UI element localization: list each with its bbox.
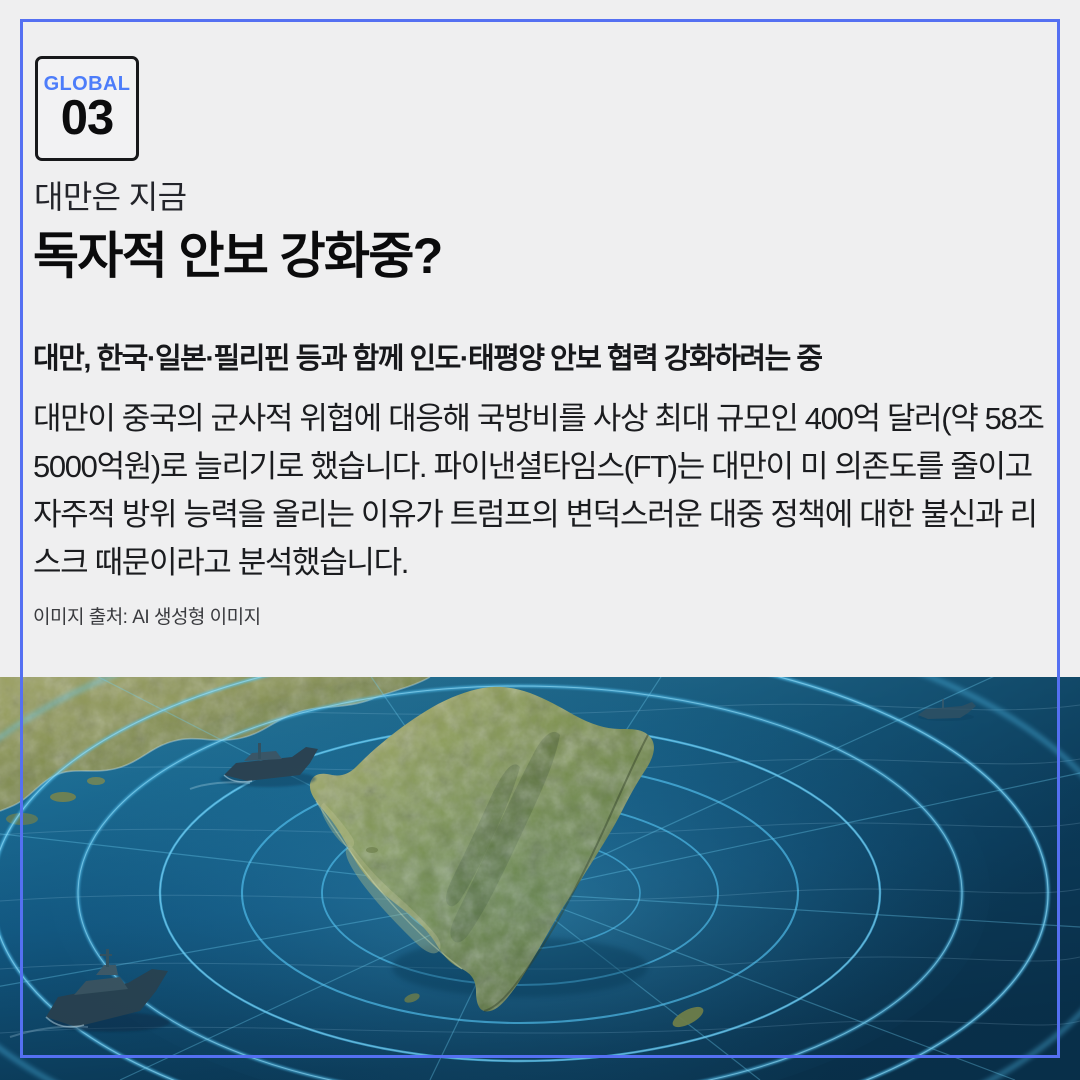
infographic-card: GLOBAL 03 대만은 지금 독자적 안보 강화중? 대만, 한국·일본·필… bbox=[0, 0, 1080, 1080]
lede-text: 대만, 한국·일본·필리핀 등과 함께 인도·태평양 안보 협력 강화하려는 중 bbox=[33, 335, 1045, 377]
page-title: 독자적 안보 강화중? bbox=[33, 216, 442, 288]
badge-number-label: 03 bbox=[61, 94, 114, 143]
image-credit: 이미지 출처: AI 생성형 이미지 bbox=[33, 602, 261, 629]
taiwan-radar-illustration bbox=[0, 677, 1080, 1080]
text-panel: GLOBAL 03 대만은 지금 독자적 안보 강화중? 대만, 한국·일본·필… bbox=[0, 0, 1080, 677]
hero-image bbox=[0, 677, 1080, 1080]
body-text: 대만이 중국의 군사적 위협에 대응해 국방비를 사상 최대 규모인 400억 … bbox=[33, 395, 1051, 587]
eyebrow-text: 대만은 지금 bbox=[34, 172, 187, 218]
global-number-badge: GLOBAL 03 bbox=[35, 56, 139, 161]
